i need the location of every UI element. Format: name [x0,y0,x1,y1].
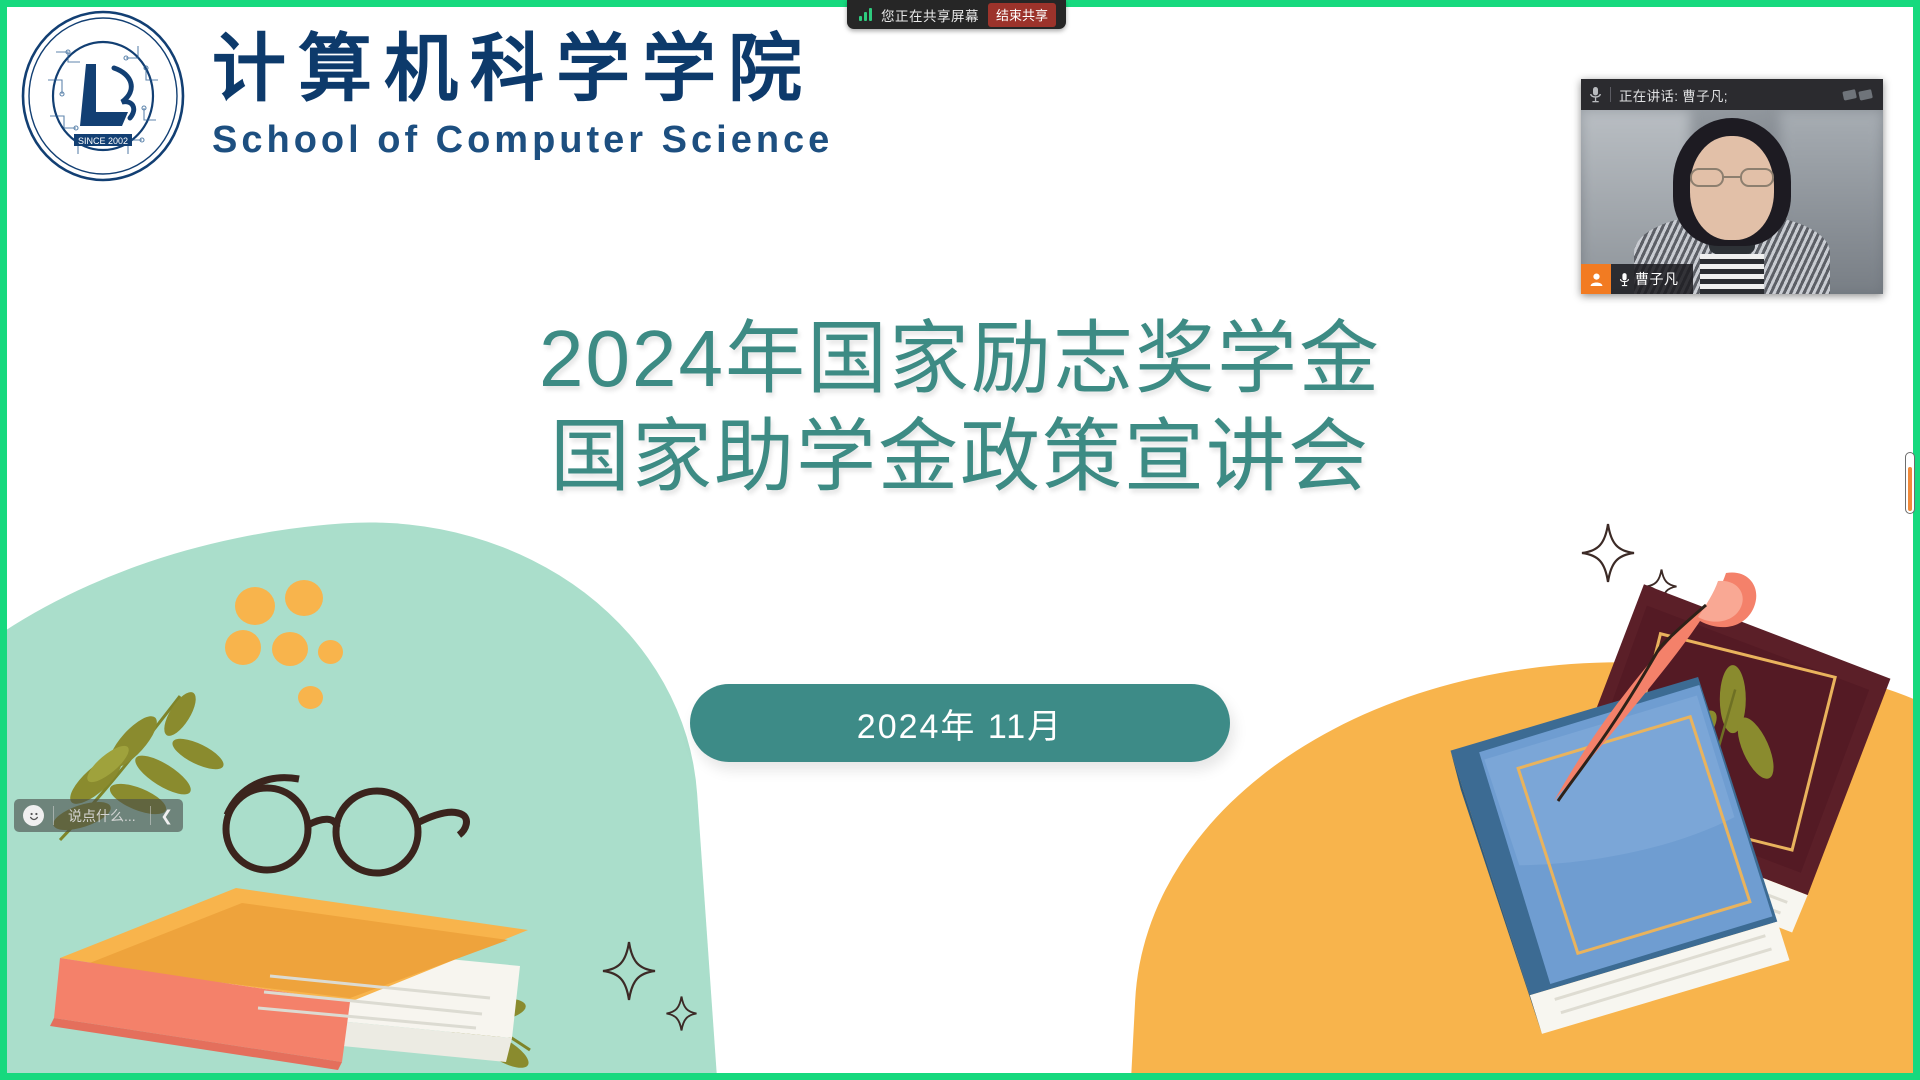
chat-input-bar[interactable]: 说点什么... ❮ [14,799,183,832]
logo-name-en: School of Computer Science [212,121,833,159]
smiley-icon[interactable] [23,805,44,826]
slide-title-line-1: 2024年国家励志奖学金 [0,310,1920,408]
speaking-now-label: 正在讲话: 曹子凡; [1619,85,1728,105]
orange-dot [272,632,308,666]
sparkle-star-icon [601,940,657,1002]
orange-dot [285,580,323,616]
chat-input-placeholder[interactable]: 说点什么... [54,806,150,826]
video-panel-header: 正在讲话: 曹子凡; [1581,79,1883,110]
video-person-glasses [1689,166,1775,188]
slide-date-badge: 2024年 11月 [690,684,1230,762]
video-feed: 曹子凡 [1581,110,1883,294]
screen-share-banner: 您正在共享屏幕 结束共享 [847,0,1066,29]
sparkle-star-icon [665,995,698,1032]
school-logo: SINCE 2002 计算机科学学院 School of Computer Sc… [18,8,833,184]
screen-share-view: SINCE 2002 计算机科学学院 School of Computer Sc… [0,0,1920,1080]
school-seal-icon: SINCE 2002 [18,8,188,184]
orange-dot [225,630,261,665]
orange-dot [298,686,323,709]
microphone-icon [1619,272,1630,287]
signal-bars-icon [859,8,872,21]
seal-since-text: SINCE 2002 [78,136,128,146]
orange-dot [318,640,343,664]
edge-slider-fill [1908,467,1912,511]
stop-share-button[interactable]: 结束共享 [988,3,1056,27]
speaker-video-panel[interactable]: 正在讲话: 曹子凡; [1581,79,1883,294]
video-person-face [1690,136,1774,240]
video-person-shirt [1700,254,1764,294]
share-status-text: 您正在共享屏幕 [881,5,979,25]
slide-title-line-2: 国家助学金政策宣讲会 [0,408,1920,506]
quill-feather-illustration [1540,555,1770,805]
orange-dot [235,587,275,625]
edge-volume-slider[interactable] [1905,452,1915,514]
window-controls-icon[interactable] [1842,87,1876,102]
header-divider [1610,87,1611,102]
participant-name: 曹子凡 [1635,269,1693,289]
slide-title: 2024年国家励志奖学金 国家助学金政策宣讲会 [0,310,1920,505]
logo-name-cn: 计算机科学学院 [212,33,833,107]
person-icon [1581,264,1611,294]
participant-name-badge: 曹子凡 [1581,264,1693,294]
eyeglasses-illustration [195,757,475,877]
microphone-icon [1589,86,1602,103]
chevron-left-icon[interactable]: ❮ [151,799,183,832]
